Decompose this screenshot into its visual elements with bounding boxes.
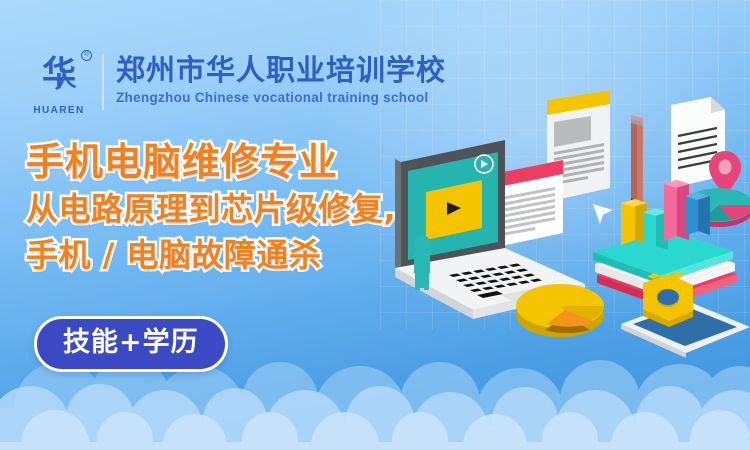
school-name-en: Zhengzhou Chinese vocational training sc… [116,89,446,107]
registered-mark-icon: ® [81,50,92,61]
pie-chart-yellow [516,284,604,337]
headline-line-3: 手机 / 电脑故障通杀 [26,232,396,278]
logo-english-mark: HUAREN [28,105,90,116]
headline-line-2: 从电路原理到芯片级修复, [26,186,396,232]
school-title-block: 郑州市华人职业培训学校 Zhengzhou Chinese vocational… [116,52,446,107]
skill-degree-badge[interactable]: 技能+学历 [34,316,228,372]
cursor-arrow-icon [593,204,613,224]
school-header: 华 人 ® HUAREN 郑州市华人职业培训学校 Zhengzhou Chine… [28,52,446,114]
pencil [631,115,643,210]
person-figure [414,235,430,290]
headline-block: 手机电脑维修专业 从电路原理到芯片级修复, 手机 / 电脑故障通杀 [26,138,396,278]
school-name-cn: 郑州市华人职业培训学校 [116,52,446,88]
huaren-logo-icon: 华 人 ® HUAREN [28,52,90,114]
promo-banner: 华 人 ® HUAREN 郑州市华人职业培训学校 Zhengzhou Chine… [0,0,750,450]
logo-glyph-secondary: 人 [53,69,77,93]
header-divider [102,54,104,110]
illustration-isometric-elearning [385,88,750,363]
headline-line-1: 手机电脑维修专业 [26,138,396,186]
